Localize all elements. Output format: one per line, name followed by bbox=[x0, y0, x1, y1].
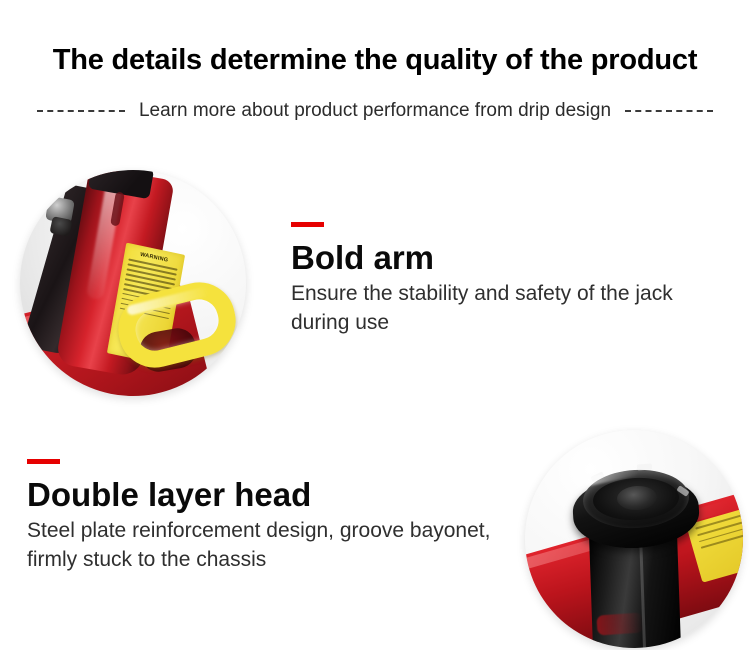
feature-description-bold-arm: Ensure the stability and safety of the j… bbox=[291, 280, 721, 338]
column-red-reflection bbox=[596, 612, 643, 635]
feature-image-double-layer-head bbox=[525, 430, 743, 648]
page-subtitle: Learn more about product performance fro… bbox=[139, 100, 611, 122]
feature-image-bold-arm: WARNING bbox=[20, 170, 246, 396]
feature-text-bold-arm: Bold arm Ensure the stability and safety… bbox=[291, 222, 721, 338]
feature-title-bold-arm: Bold arm bbox=[291, 240, 721, 276]
page-header: The details determine the quality of the… bbox=[0, 0, 750, 150]
dashed-rule-left-icon bbox=[37, 110, 125, 112]
feature-description-double-layer-head: Steel plate reinforcement design, groove… bbox=[27, 517, 507, 575]
feature-text-double-layer-head: Double layer head Steel plate reinforcem… bbox=[27, 459, 507, 575]
product-detail-page: The details determine the quality of the… bbox=[0, 0, 750, 650]
groove-bayonet-notch-icon bbox=[637, 463, 652, 470]
subtitle-row: Learn more about product performance fro… bbox=[0, 100, 750, 122]
accent-bar-bold-arm bbox=[291, 222, 324, 227]
dashed-rule-right-icon bbox=[625, 110, 713, 112]
accent-bar-double-layer-head bbox=[27, 459, 60, 464]
page-title: The details determine the quality of the… bbox=[0, 44, 750, 77]
jack-head-illustration bbox=[525, 430, 743, 648]
feature-title-double-layer-head: Double layer head bbox=[27, 477, 507, 513]
jack-arm-illustration: WARNING bbox=[20, 170, 246, 396]
